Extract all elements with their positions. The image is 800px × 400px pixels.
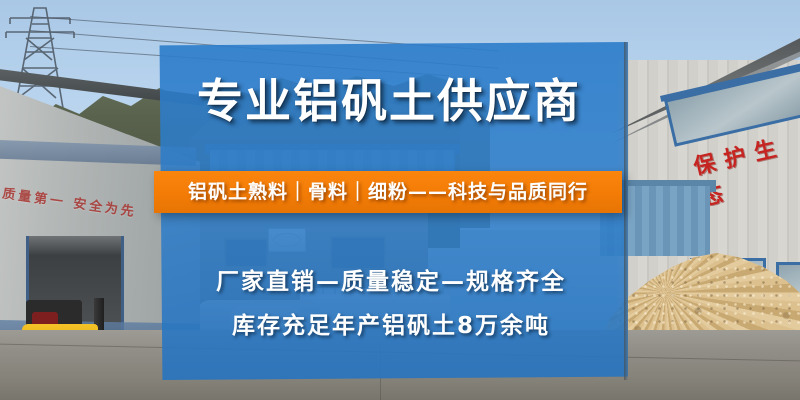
- promotional-banner: 质量第一 安全为先 保护生态 专业铝矾土供应商: [0, 0, 800, 400]
- orange-tagline-text: 铝矾土熟料｜骨料｜细粉——科技与品质同行: [154, 171, 622, 213]
- headline: 专业铝矾土供应商: [150, 78, 628, 124]
- subline-2: 库存充足年产铝矾土8万余吨: [152, 306, 630, 340]
- orange-tagline-bar: 铝矾土熟料｜骨料｜细粉——科技与品质同行: [154, 171, 622, 213]
- subline-1: 厂家直销—质量稳定—规格齐全: [152, 262, 630, 296]
